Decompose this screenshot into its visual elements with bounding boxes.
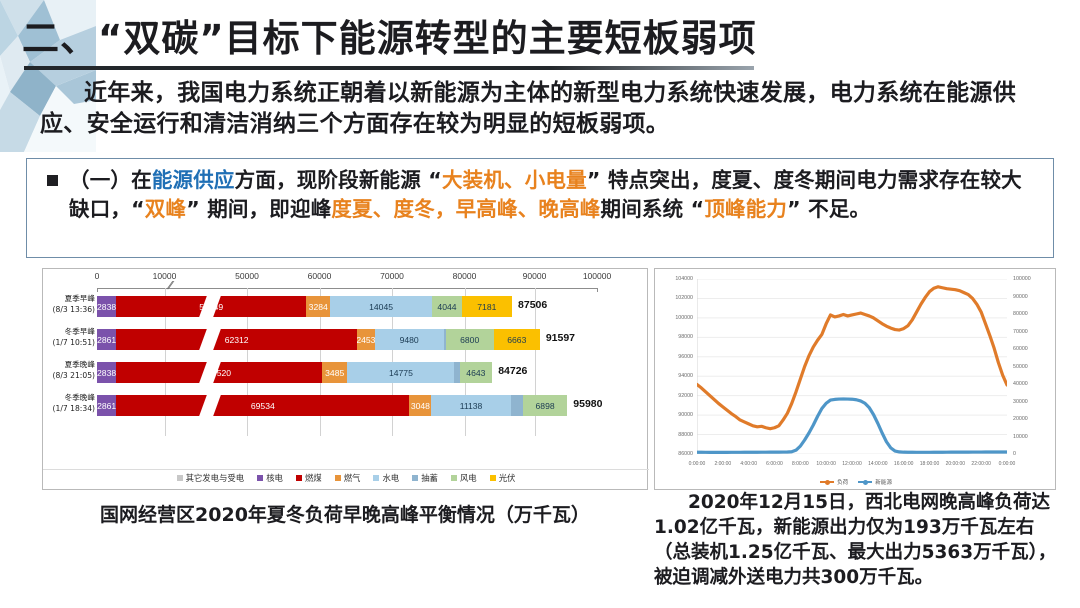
- bar-segment-水电: 9480: [375, 329, 444, 350]
- bar-segment-核电: 2861: [97, 329, 116, 350]
- x-axis-tick-label: 18:00:00: [920, 461, 939, 467]
- legend-label: 抽蓄: [421, 472, 438, 484]
- x-tick-label: 60000: [308, 271, 332, 281]
- bar-chart-x-axis-labels: 0100005000060000700008000090000100000: [43, 271, 649, 287]
- bar-segment-光伏: 7181: [462, 296, 512, 317]
- line-series-新能源: [697, 399, 1007, 452]
- legend-label: 燃气: [344, 472, 361, 484]
- legend-item-燃气[interactable]: 燃气: [335, 472, 361, 484]
- bullet-callout-box: （一）在能源供应方面，现阶段新能源 “大装机、小电量” 特点突出，度夏、度冬期间…: [26, 158, 1054, 258]
- caption-line-2: 1.02亿千瓦，新能源出力仅为193万千瓦左右: [654, 517, 1034, 538]
- legend-swatch: [177, 475, 183, 481]
- x-tick-label: 50000: [235, 271, 259, 281]
- legend-item-燃煤[interactable]: 燃煤: [296, 472, 322, 484]
- bar-total-label: 95980: [573, 398, 602, 410]
- x-axis-tick-label: 22:00:00: [971, 461, 990, 467]
- bar-total-label: 84726: [498, 365, 527, 377]
- right-axis-tick-label: 50000: [1013, 364, 1028, 370]
- x-axis-tick-label: 2:00:00: [714, 461, 731, 467]
- bar-segment-水电: 14775: [347, 362, 454, 383]
- stacked-bar: 2861623122453948068006663: [97, 329, 597, 350]
- bullet-square-icon: [47, 175, 58, 186]
- right-axis-tick-label: 40000: [1013, 381, 1028, 387]
- right-axis-tick-label: 60000: [1013, 346, 1028, 352]
- bullet-highlight-peaks: 度夏、度冬，早高峰、晚高峰: [331, 197, 600, 221]
- x-axis-tick-label: 0:00:00: [689, 461, 706, 467]
- legend-label: 水电: [382, 472, 399, 484]
- right-axis-tick-label: 90000: [1013, 294, 1028, 300]
- bullet-seg-5: 期间系统 “: [601, 197, 705, 221]
- line-chart-svg: [697, 279, 1007, 454]
- x-tick-label: 90000: [523, 271, 547, 281]
- left-axis-tick-label: 88000: [655, 432, 693, 438]
- intro-paragraph: 近年来，我国电力系统正朝着以新能源为主体的新型电力系统快速发展，电力系统在能源供…: [40, 78, 1055, 140]
- legend-label: 负荷: [837, 478, 848, 486]
- bar-segment-风电: 6800: [446, 329, 494, 350]
- x-tick-label: 80000: [453, 271, 477, 281]
- row-label-name: 冬季早峰: [45, 326, 95, 337]
- x-tick-label: 100000: [583, 271, 611, 281]
- bar-chart-legend: 其它发电与受电核电燃煤燃气水电抽蓄风电光伏: [43, 469, 649, 486]
- legend-label: 燃煤: [305, 472, 322, 484]
- legend-swatch: [373, 475, 379, 481]
- left-axis-tick-label: 98000: [655, 334, 693, 340]
- right-chart-caption: 2020年12月15日，西北电网晚高峰负荷达 1.02亿千瓦，新能源出力仅为19…: [654, 490, 1066, 591]
- bar-segment-水电: 14045: [330, 296, 432, 317]
- bar-segment-燃煤: 62312: [116, 329, 357, 350]
- legend-item-其它发电与受电[interactable]: 其它发电与受电: [177, 472, 245, 484]
- x-axis-tick-label: 20:00:00: [946, 461, 965, 467]
- x-axis-tick-label: 14:00:00: [868, 461, 887, 467]
- left-axis-tick-label: 86000: [655, 451, 693, 457]
- left-axis-tick-label: 102000: [655, 295, 693, 301]
- bullet-highlight-energy-supply: 能源供应: [152, 168, 235, 192]
- bar-segment-核电: 2861: [97, 395, 116, 416]
- bar-total-label: 87506: [518, 299, 547, 311]
- x-axis-tick-label: 12:00:00: [842, 461, 861, 467]
- left-axis-tick-label: 90000: [655, 412, 693, 418]
- caption-line-3: （总装机1.25亿千瓦、最大出力5363万千瓦），: [654, 542, 1056, 563]
- caption-line-4: 被迫调减外送电力共300万千瓦。: [654, 567, 933, 588]
- caption-line-1: 2020年12月15日，西北电网晚高峰负荷达: [688, 492, 1050, 513]
- bar-segment-燃气: 3485: [322, 362, 347, 383]
- legend-label: 核电: [266, 472, 283, 484]
- x-axis-tick-label: 8:00:00: [792, 461, 809, 467]
- bar-segment-水电: 11138: [431, 395, 510, 416]
- intro-text: 近年来，我国电力系统正朝着以新能源为主体的新型电力系统快速发展，电力系统在能源供…: [40, 80, 1016, 137]
- legend-item-水电[interactable]: 水电: [373, 472, 399, 484]
- bar-row-label: 冬季早峰(1/7 10:51): [45, 326, 95, 348]
- bullet-seg-4: ” 期间，即迎峰: [186, 197, 331, 221]
- bar-segment-燃煤: 69534: [116, 395, 409, 416]
- bar-segment-抽蓄: [511, 395, 523, 416]
- left-axis-tick-label: 92000: [655, 393, 693, 399]
- row-label-time: (1/7 18:34): [45, 403, 95, 414]
- legend-item-风电[interactable]: 风电: [451, 472, 477, 484]
- line-chart-panel: 1040001020001000009800096000940009200090…: [654, 268, 1056, 490]
- right-axis-tick-label: 70000: [1013, 329, 1028, 335]
- bar-chart-row: 夏季晚峰(8/3 21:05)2838575203485147754643847…: [43, 357, 649, 389]
- right-axis-tick-label: 20000: [1013, 416, 1028, 422]
- bullet-seg-1: （一）在: [69, 168, 152, 192]
- bullet-highlight-big-capacity: 大装机、小电量: [442, 168, 587, 192]
- bar-segment-核电: 2838: [97, 296, 116, 317]
- legend-item-抽蓄[interactable]: 抽蓄: [412, 472, 438, 484]
- bar-chart-rows: 夏季早峰(8/3 13:36)2838553493284140454044718…: [43, 291, 649, 439]
- bullet-paragraph: （一）在能源供应方面，现阶段新能源 “大装机、小电量” 特点突出，度夏、度冬期间…: [69, 166, 1041, 224]
- legend-swatch: [451, 475, 457, 481]
- bullet-seg-2: 方面，现阶段新能源 “: [235, 168, 442, 192]
- x-axis-tick-label: 16:00:00: [894, 461, 913, 467]
- row-label-name: 夏季早峰: [45, 293, 95, 304]
- legend-label: 风电: [460, 472, 477, 484]
- stacked-bar: 2861695343048111386898: [97, 395, 597, 416]
- left-axis-tick-label: 96000: [655, 354, 693, 360]
- legend-swatch: [412, 475, 418, 481]
- bar-chart-panel: 0100005000060000700008000090000100000 //…: [42, 268, 648, 490]
- legend-swatch: [296, 475, 302, 481]
- x-axis-tick-label: 4:00:00: [740, 461, 757, 467]
- legend-swatch: [490, 475, 496, 481]
- left-axis-tick-label: 100000: [655, 315, 693, 321]
- bar-row-label: 冬季晚峰(1/7 18:34): [45, 392, 95, 414]
- bar-chart-row: 冬季早峰(1/7 10:51)2861623122453948068006663…: [43, 324, 649, 356]
- bar-chart-axis-line: [97, 288, 597, 289]
- legend-item-核电[interactable]: 核电: [257, 472, 283, 484]
- bar-chart-row: 冬季晚峰(1/7 18:34)2861695343048111386898959…: [43, 390, 649, 422]
- legend-item-负荷[interactable]: 负荷: [820, 478, 848, 486]
- bar-segment-燃气: 3048: [409, 395, 431, 416]
- right-axis-tick-label: 100000: [1013, 276, 1031, 282]
- bar-segment-风电: 4044: [432, 296, 461, 317]
- page-title: 二、“双碳”目标下能源转型的主要短板弱项: [22, 8, 757, 62]
- bar-segment-燃气: 3284: [306, 296, 330, 317]
- bar-segment-风电: 4643: [460, 362, 493, 383]
- line-series-负荷: [697, 287, 1007, 429]
- bullet-seg-6: ” 不足。: [787, 197, 870, 221]
- title-underline: [24, 66, 754, 70]
- bar-segment-风电: 6898: [523, 395, 567, 416]
- legend-swatch: [335, 475, 341, 481]
- left-axis-tick-label: 104000: [655, 276, 693, 282]
- legend-label: 光伏: [499, 472, 516, 484]
- bullet-highlight-dual-peak: 双峰: [145, 197, 186, 221]
- right-axis-tick-label: 0: [1013, 451, 1016, 457]
- bar-row-label: 夏季早峰(8/3 13:36): [45, 293, 95, 315]
- row-label-time: (8/3 21:05): [45, 370, 95, 381]
- bar-row-label: 夏季晚峰(8/3 21:05): [45, 359, 95, 381]
- left-chart-caption: 国网经营区2020年夏冬负荷早晚高峰平衡情况（万千瓦）: [42, 500, 648, 527]
- row-label-name: 冬季晚峰: [45, 392, 95, 403]
- left-axis-tick-label: 94000: [655, 373, 693, 379]
- bar-chart-row: 夏季早峰(8/3 13:36)2838553493284140454044718…: [43, 291, 649, 323]
- right-axis-tick-label: 80000: [1013, 311, 1028, 317]
- row-label-time: (1/7 10:51): [45, 337, 95, 348]
- x-axis-tick-label: 10:00:00: [816, 461, 835, 467]
- bar-segment-燃气: 2453: [357, 329, 375, 350]
- bar-total-label: 91597: [546, 332, 575, 344]
- legend-label: 新能源: [875, 478, 892, 486]
- stacked-bar-chart: 0100005000060000700008000090000100000 //…: [43, 269, 647, 489]
- right-axis-tick-label: 30000: [1013, 399, 1028, 405]
- bar-segment-光伏: 6663: [494, 329, 540, 350]
- bullet-highlight-peak-capacity: 顶峰能力: [704, 197, 787, 221]
- legend-label: 其它发电与受电: [186, 472, 245, 484]
- x-tick-label: 0: [95, 271, 100, 281]
- line-chart-legend: 负荷新能源: [655, 478, 1057, 486]
- bar-segment-核电: 2838: [97, 362, 116, 383]
- row-label-name: 夏季晚峰: [45, 359, 95, 370]
- load-vs-renewable-line-chart: 1040001020001000009800096000940009200090…: [655, 269, 1055, 489]
- legend-swatch: [257, 475, 263, 481]
- legend-line-marker: [820, 481, 834, 483]
- legend-line-marker: [858, 481, 872, 483]
- x-axis-tick-label: 6:00:00: [766, 461, 783, 467]
- row-label-time: (8/3 13:36): [45, 304, 95, 315]
- x-tick-label: 70000: [380, 271, 404, 281]
- legend-item-新能源[interactable]: 新能源: [858, 478, 892, 486]
- right-axis-tick-label: 10000: [1013, 434, 1028, 440]
- slide-title-bar: 二、“双碳”目标下能源转型的主要短板弱项: [0, 0, 1080, 70]
- x-axis-tick-label: 0:00:00: [999, 461, 1016, 467]
- legend-item-光伏[interactable]: 光伏: [490, 472, 516, 484]
- line-chart-plot-area: [697, 279, 1007, 454]
